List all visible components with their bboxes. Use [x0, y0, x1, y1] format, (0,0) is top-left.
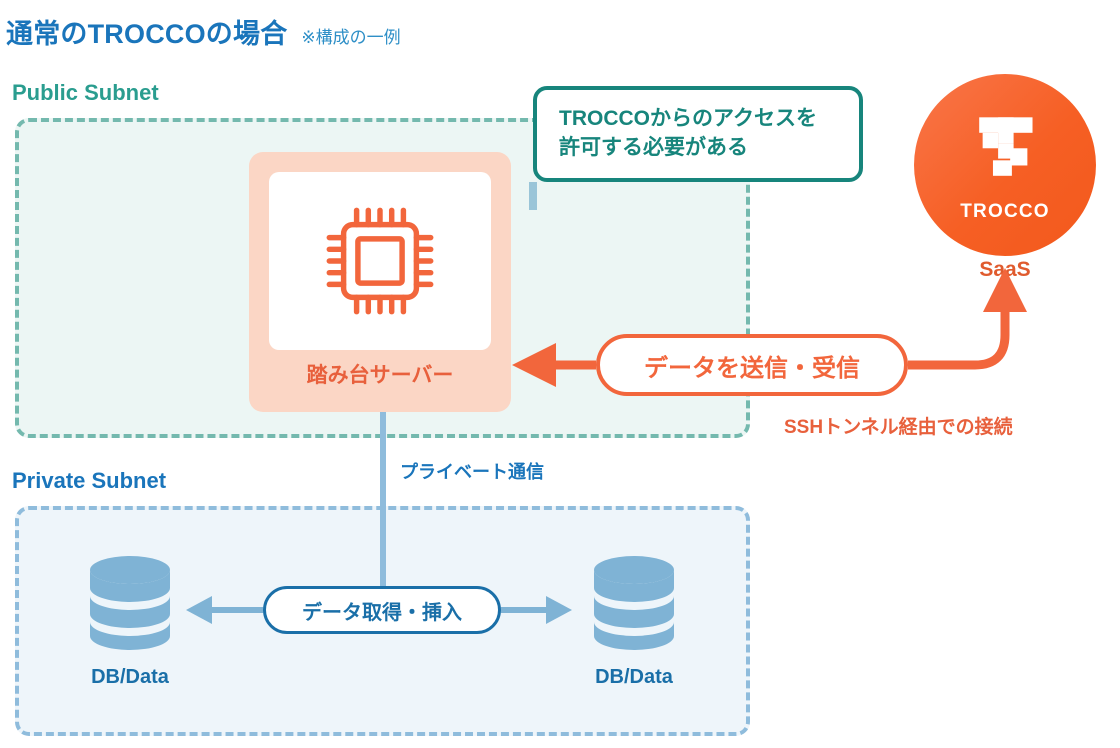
saas-label: SaaS: [914, 258, 1096, 282]
title-note-text: ※構成の一例: [301, 23, 400, 48]
private-subnet-label: Private Subnet: [12, 468, 166, 494]
bastion-server-icon-frame: [269, 172, 491, 350]
public-subnet-label: Public Subnet: [12, 80, 159, 106]
database-node-right: DB/Data: [559, 552, 709, 689]
cpu-chip-icon: [315, 196, 445, 326]
callout-box: TROCCOからのアクセスを 許可する必要がある: [533, 86, 863, 182]
db-transfer-pill: データ取得・挿入: [263, 586, 501, 634]
callout-tail: [529, 182, 537, 210]
database-caption-left: DB/Data: [91, 666, 169, 689]
private-link-line: [380, 412, 386, 602]
database-cylinder-icon: [82, 552, 178, 656]
database-node-left: DB/Data: [55, 552, 205, 689]
private-comm-label: プライベート通信: [400, 458, 544, 484]
diagram-canvas: 通常のTROCCOの場合 ※構成の一例 Public Subnet Privat…: [0, 0, 1120, 748]
bastion-server-caption: 踏み台サーバー: [249, 359, 511, 389]
callout-line-2: 許可する必要がある: [559, 134, 859, 163]
callout-line-1: TROCCOからのアクセスを: [559, 105, 859, 134]
trocco-logo-icon: [962, 107, 1048, 193]
ssh-tunnel-note: SSHトンネル経由での接続: [784, 412, 1013, 439]
title-main-text: 通常のTROCCOの場合: [6, 12, 287, 51]
trocco-wordmark: TROCCO: [960, 201, 1050, 223]
bastion-server-node: 踏み台サーバー: [249, 152, 511, 412]
trocco-saas-node: TROCCO: [914, 74, 1096, 256]
page-title: 通常のTROCCOの場合 ※構成の一例: [6, 12, 401, 51]
database-caption-right: DB/Data: [595, 666, 673, 689]
data-transfer-pill: データを送信・受信: [596, 334, 908, 396]
database-cylinder-icon: [586, 552, 682, 656]
